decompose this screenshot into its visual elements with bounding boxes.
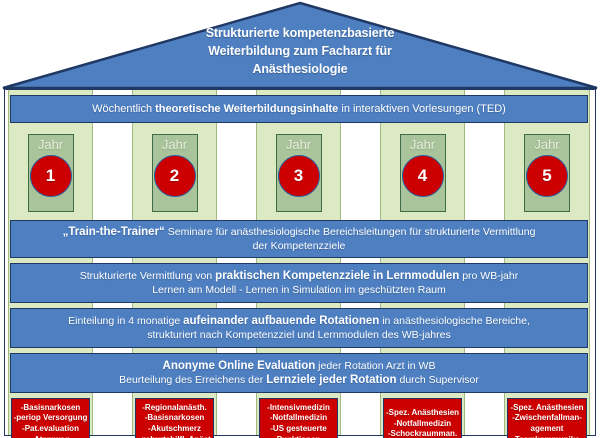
year-number-5: 5	[526, 155, 568, 197]
bar-rotation-post: in anästhesiologische Bereiche,	[379, 315, 530, 327]
bar-train-the-trainer: „Train-the-Trainer“ Seminare für anästhe…	[10, 220, 588, 258]
year-cell-3: Jahr 3	[256, 130, 341, 215]
year-box-4[interactable]: Jahr 4	[400, 134, 446, 212]
roof-title-line-2: Weiterbildung zum Facharzt für	[0, 42, 600, 60]
roof-title: Strukturierte kompetenzbasierte Weiterbi…	[0, 24, 600, 78]
rotation-item: Punktionen	[277, 435, 321, 438]
rotation-item: -periop Versorgung	[14, 413, 88, 424]
year-number-4: 4	[402, 155, 444, 197]
year-label-5: Jahr	[534, 137, 559, 152]
rotation-item: -US gesteuerte	[270, 424, 326, 435]
roof-title-line-1: Strukturierte kompetenzbasierte	[0, 24, 600, 42]
year-number-2: 2	[154, 155, 196, 197]
bar-rotation-line-2: strukturiert nach Kompetenzziel und Lern…	[17, 328, 581, 342]
year-box-3[interactable]: Jahr 3	[276, 134, 322, 212]
rotation-box-4[interactable]: -Spez. Anästhesien -Notfallmedizin -Scho…	[383, 398, 462, 438]
rotation-item: -Spez. Anästhesien	[510, 403, 583, 414]
bar-eval-line2-post: durch Supervisor	[397, 374, 479, 386]
roof-title-line-3: Anästhesiologie	[0, 60, 600, 78]
year-label-4: Jahr	[410, 137, 435, 152]
bar-rotations: Einteilung in 4 monatige aufeinander auf…	[10, 308, 588, 348]
bar-weekly-post: in interaktiven Vorlesungen (TED)	[338, 103, 506, 115]
rotation-item: -Teamkommunika.	[512, 435, 582, 438]
bar-module-line-2: Lernen am Modell - Lernen in Simulation …	[17, 283, 581, 297]
year-label-1: Jahr	[38, 137, 63, 152]
rotation-cell-1: -Basisnarkosen -periop Versorgung -Pat.e…	[11, 398, 90, 438]
rotation-cell-5: -Spez. Anästhesien -Zwischenfallman- age…	[507, 398, 587, 438]
rotation-box-1[interactable]: -Basisnarkosen -periop Versorgung -Pat.e…	[11, 398, 90, 438]
rotation-item: -Schockraumman.	[388, 429, 457, 438]
bar-module-post: pro WB-jahr	[459, 270, 518, 282]
house-body: Jahr 1 Jahr 2 Jahr 3 Jahr 4 Jahr	[4, 89, 596, 436]
roof-shape: Strukturierte kompetenzbasierte Weiterbi…	[0, 0, 600, 90]
rotation-item: -Basisnarkosen	[145, 413, 205, 424]
bar-eval-rest: jeder Rotation Arzt in WB	[315, 360, 435, 372]
year-number-3: 3	[278, 155, 320, 197]
bar-weekly-pre: Wöchentlich	[92, 103, 155, 115]
rotation-item: -Regionalanästh.	[142, 403, 206, 414]
bar-rotation-strong: aufeinander aufbauende Rotationen	[183, 315, 379, 327]
rotation-item: -Notfallmedizin	[270, 413, 327, 424]
rotation-box-5[interactable]: -Spez. Anästhesien -Zwischenfallman- age…	[507, 398, 587, 438]
bar-module-pre: Strukturierte Vermittlung von	[80, 270, 215, 282]
diagram-canvas: Strukturierte kompetenzbasierte Weiterbi…	[0, 0, 600, 438]
bar-ttt-strong: „Train-the-Trainer“	[63, 226, 165, 238]
bar-eval-strong: Anonyme Online Evaluation	[163, 360, 316, 372]
rotation-box-2[interactable]: -Regionalanästh. -Basisnarkosen -Akutsch…	[135, 398, 214, 438]
year-cell-4: Jahr 4	[380, 130, 465, 215]
bar-module-strong: praktischen Kompetenzziele in Lernmodule…	[215, 270, 459, 282]
rotation-item: -Atemweg	[31, 435, 69, 438]
bar-weekly-theory: Wöchentlich theoretische Weiterbildungsi…	[10, 95, 588, 123]
rotation-item: -Notfallmedizin	[394, 419, 451, 430]
bar-eval-line2-strong: Lernziele jeder Rotation	[266, 374, 396, 386]
rotation-item: -geburtshilfl. Anäst	[138, 435, 211, 438]
rotation-cell-2: -Regionalanästh. -Basisnarkosen -Akutsch…	[135, 398, 214, 438]
year-box-5[interactable]: Jahr 5	[524, 134, 570, 212]
year-box-2[interactable]: Jahr 2	[152, 134, 198, 212]
rotation-item: agement	[531, 424, 564, 435]
bar-ttt-rest: Seminare für anästhesiologische Bereichs…	[165, 226, 536, 238]
rotation-item: -Akutschmerz	[148, 424, 201, 435]
rotation-item: -Pat.evaluation	[22, 424, 79, 435]
rotation-item: -Basisnarkosen	[21, 403, 81, 414]
rotation-box-3[interactable]: -Intensivmedizin -Notfallmedizin -US ges…	[259, 398, 338, 438]
year-number-1: 1	[30, 155, 72, 197]
year-box-1[interactable]: Jahr 1	[28, 134, 74, 212]
bar-eval-line2-pre: Beurteilung des Erreichens der	[119, 374, 266, 386]
year-label-2: Jahr	[162, 137, 187, 152]
bar-rotation-pre: Einteilung in 4 monatige	[68, 315, 183, 327]
rotation-item: -Intensivmedizin	[267, 403, 330, 414]
year-label-3: Jahr	[286, 137, 311, 152]
year-cell-1: Jahr 1	[8, 130, 93, 215]
bar-ttt-line-2: der Kompetenzziele	[17, 239, 581, 253]
rotation-item: -Zwischenfallman-	[512, 413, 582, 424]
year-cell-2: Jahr 2	[132, 130, 217, 215]
rotation-item: -Spez. Anästhesien	[386, 408, 459, 419]
bar-evaluation: Anonyme Online Evaluation jeder Rotation…	[10, 353, 588, 393]
rotation-cell-3: -Intensivmedizin -Notfallmedizin -US ges…	[259, 398, 338, 438]
bar-weekly-strong: theoretische Weiterbildungsinhalte	[155, 103, 338, 115]
year-cell-5: Jahr 5	[504, 130, 590, 215]
bar-learning-modules: Strukturierte Vermittlung von praktische…	[10, 263, 588, 303]
rotation-cell-4: -Spez. Anästhesien -Notfallmedizin -Scho…	[383, 398, 462, 438]
